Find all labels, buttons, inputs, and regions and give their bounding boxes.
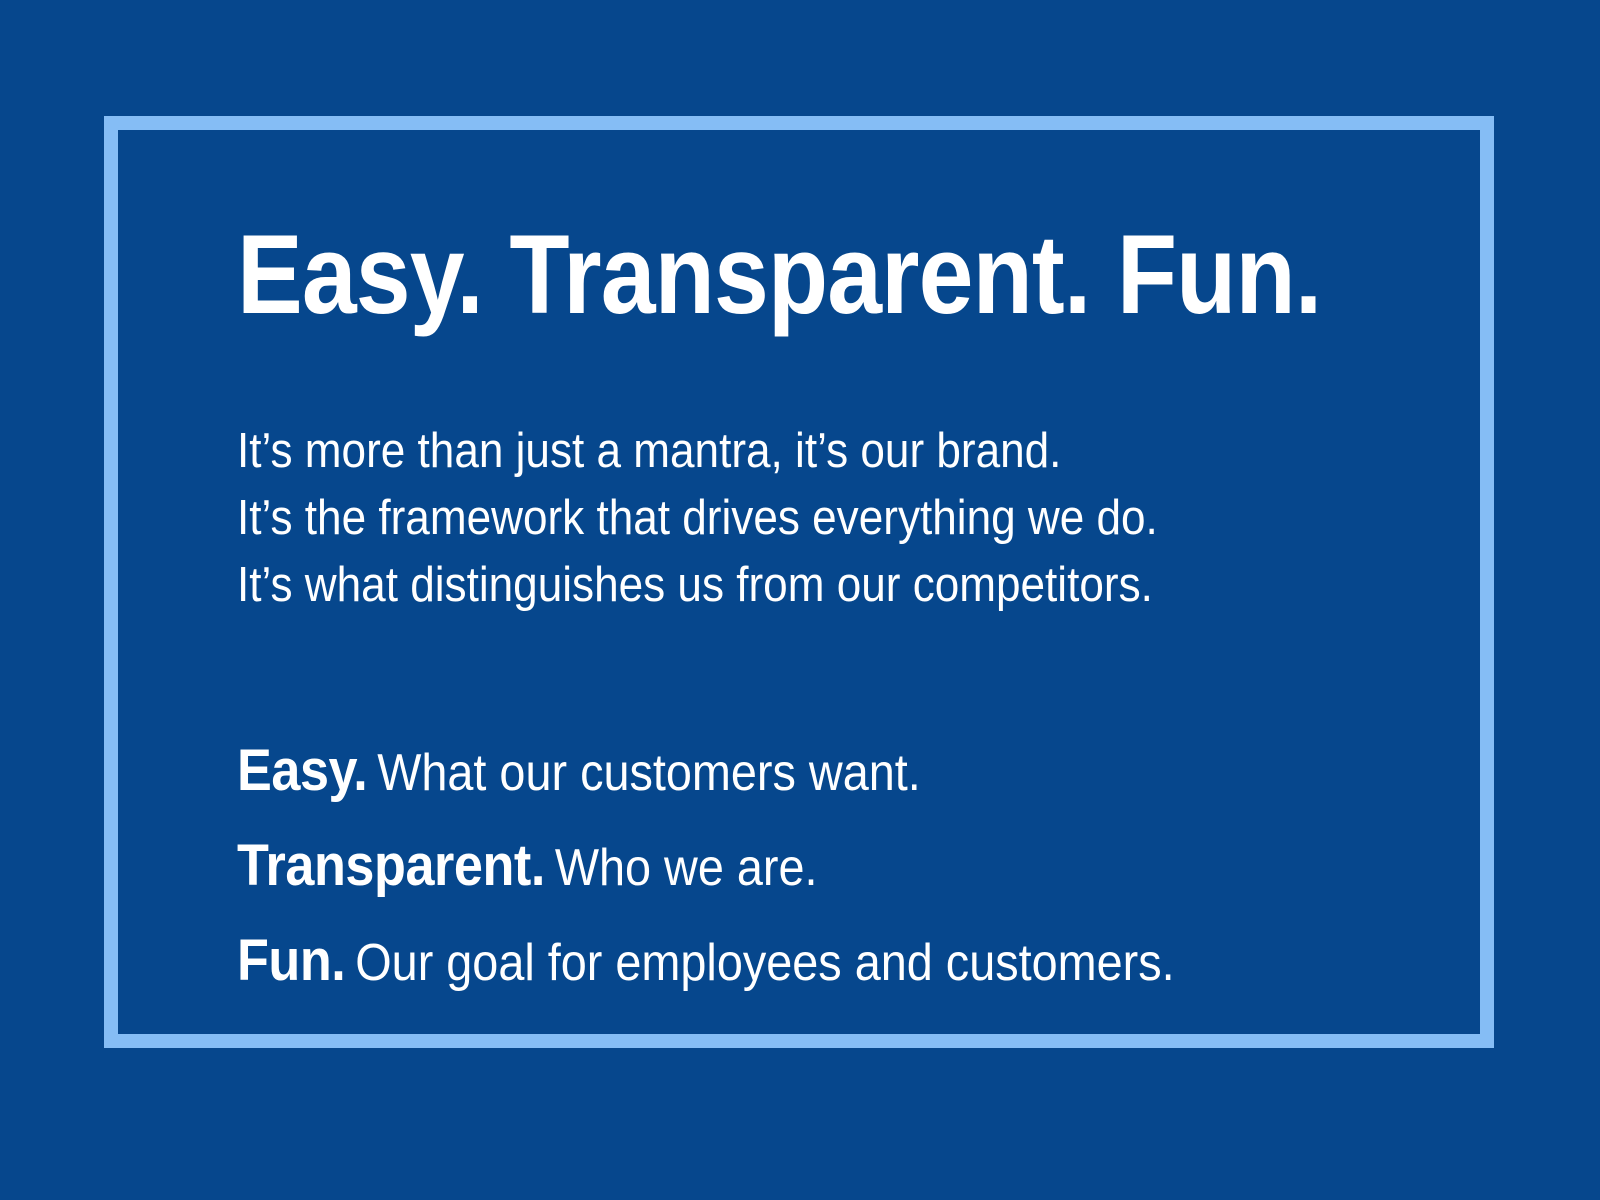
- pillar-term-transparent: Transparent.: [237, 833, 545, 898]
- intro-paragraph: It’s more than just a mantra, it’s our b…: [237, 334, 1417, 619]
- pillar-item-transparent: Transparent.Who we are.: [237, 826, 1299, 921]
- intro-line-1: It’s more than just a mantra, it’s our b…: [237, 418, 1299, 485]
- pillar-description-transparent: Who we are.: [545, 839, 818, 897]
- pillar-item-easy: Easy.What our customers want.: [237, 731, 1299, 826]
- pillar-term-fun: Fun.: [237, 928, 345, 993]
- pillar-description-fun: Our goal for employees and customers.: [345, 934, 1174, 992]
- slide-content: Easy. Transparent. Fun. It’s more than j…: [237, 216, 1417, 1016]
- slide-headline: Easy. Transparent. Fun.: [237, 216, 1275, 334]
- pillar-description-easy: What our customers want.: [367, 744, 921, 802]
- intro-line-3: It’s what distinguishes us from our comp…: [237, 552, 1299, 619]
- pillar-item-fun: Fun.Our goal for employees and customers…: [237, 921, 1299, 1016]
- pillar-term-easy: Easy.: [237, 738, 367, 803]
- brand-mantra-slide: Easy. Transparent. Fun. It’s more than j…: [0, 0, 1600, 1200]
- pillar-list: Easy.What our customers want. Transparen…: [237, 619, 1417, 1016]
- intro-line-2: It’s the framework that drives everythin…: [237, 485, 1299, 552]
